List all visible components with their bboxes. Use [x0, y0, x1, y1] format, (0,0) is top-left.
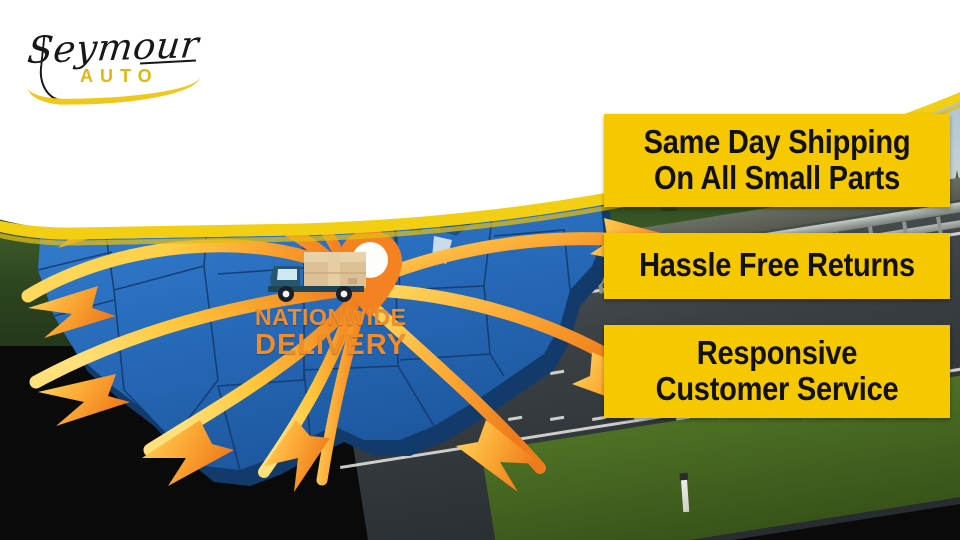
feature-banner-same-day-shipping[interactable]: Same Day Shipping On All Small Parts — [604, 114, 950, 207]
feature-line: Customer Service — [632, 371, 922, 407]
feature-line: Same Day Shipping — [632, 124, 922, 160]
feature-banner-responsive-customer-service[interactable]: Responsive Customer Service — [604, 325, 950, 418]
arrow-head — [142, 420, 234, 486]
brand-name: Seymour — [25, 23, 201, 72]
promo-banner: NATIONWIDE DELIVERY Seymour AUTO Same Da… — [0, 0, 960, 540]
brand-logo[interactable]: Seymour AUTO — [22, 14, 212, 96]
feature-banner-list: Same Day Shipping On All Small Parts Has… — [604, 114, 950, 418]
feature-line: Hassle Free Returns — [632, 247, 922, 283]
arrow-head — [456, 420, 540, 492]
delivery-label: DELIVERY — [255, 331, 405, 360]
arrow-head — [38, 374, 130, 426]
nationwide-label: NATIONWIDE — [255, 306, 405, 329]
feature-banner-hassle-free-returns[interactable]: Hassle Free Returns — [604, 233, 950, 299]
feature-line: On All Small Parts — [632, 160, 922, 196]
feature-line: Responsive — [632, 335, 922, 371]
nationwide-delivery-text: NATIONWIDE DELIVERY — [255, 306, 405, 360]
